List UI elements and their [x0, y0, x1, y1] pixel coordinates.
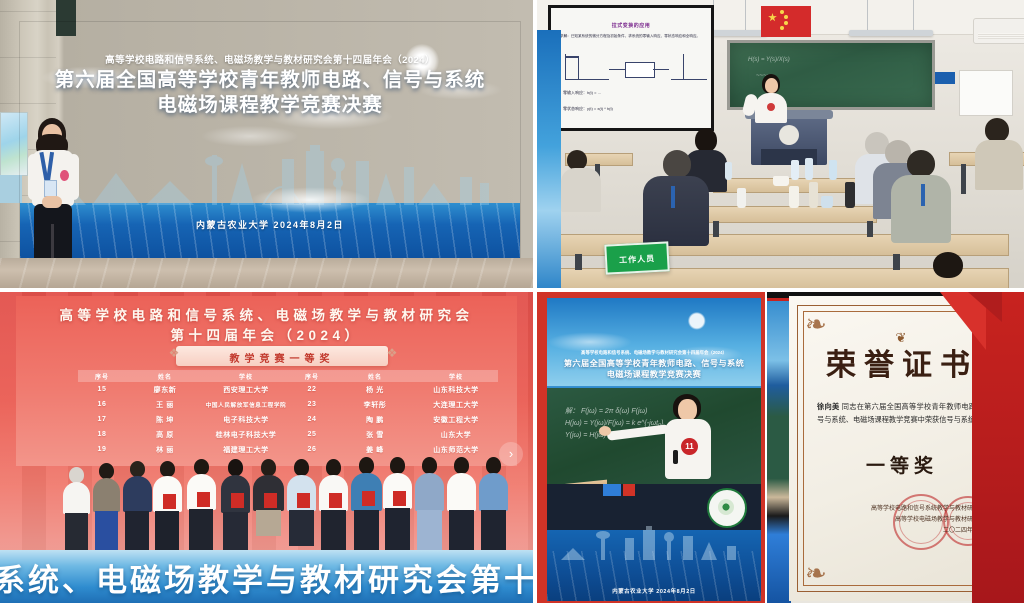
- wall-sign: [935, 72, 955, 84]
- cell-no-right: 23: [288, 401, 336, 408]
- award-plaque: 教学竞赛一等奖: [176, 346, 388, 366]
- background-strip: [767, 292, 791, 603]
- panel-classroom-lecture[interactable]: 拉式变换的应用 求解：已知某系统的微分方程及初始条件，求系统的零输入响应、零状态…: [537, 0, 1024, 288]
- presenter: [751, 74, 791, 122]
- cell-no-right: 24: [288, 416, 336, 423]
- teacher-hand: [599, 426, 611, 436]
- slide-equation-2: 零状态响应：y(t) = x(t) * h(t): [563, 106, 613, 112]
- hands: [42, 196, 62, 208]
- lamp-wire: [745, 0, 746, 30]
- issuer-line-2: 高等学校电磁场教学与教材研究会: [835, 515, 985, 526]
- staff-sign-label: 工作人员: [607, 252, 667, 266]
- cell-name-right: 陶 鹏: [336, 415, 414, 425]
- panel-event-backdrop[interactable]: 高等学校电路和信号系统、电磁场教学与教材研究会第十四届年会（2024） 第六届全…: [0, 0, 533, 288]
- certificate-issuer: 高等学校电路和信号系统教学与教材研究会 高等学校电磁场教学与教材研究会 二〇二四…: [835, 504, 985, 537]
- audience-member: [891, 150, 949, 242]
- female-participant: [22, 118, 84, 278]
- desk-leg: [867, 221, 873, 237]
- th-name-right: 姓名: [336, 372, 414, 381]
- lamp-wire: [867, 0, 868, 30]
- stage-front-banner: 系统、电磁场教学与教材研究会第十四: [0, 550, 533, 603]
- red-card: [623, 484, 635, 496]
- blackboard-line-1: 解： F(jω) = 2π δ(ω) F(jω): [565, 406, 663, 418]
- microphone: [673, 450, 678, 464]
- th-school-left: 学校: [204, 372, 288, 381]
- table-row: 17 陈 坤 电子科技大学 24 陶 鹏 安徽工程大学: [78, 412, 498, 427]
- photo-banner-subtitle: 高等学校电路和信号系统、电磁场教学与教材研究会第十四届年会（2024）: [547, 350, 761, 356]
- audience-member: [917, 252, 977, 288]
- th-school-right: 学校: [414, 372, 498, 381]
- panel-award-ceremony[interactable]: 高等学校电路和信号系统、电磁场教学与教材研究会 第十四届年会（2024） 教学竞…: [0, 292, 533, 603]
- flag-big-star: [768, 13, 777, 22]
- horizon-glow: [250, 187, 370, 213]
- pavement: [0, 258, 533, 288]
- blue-card: [603, 484, 621, 496]
- award-recipient: [414, 457, 444, 551]
- award-recipient: [478, 457, 508, 551]
- lectern-emblem: [779, 125, 799, 145]
- desk-leg: [713, 221, 719, 237]
- cell-name-right: 李轩彤: [336, 400, 414, 410]
- contestant-number-badge: 11: [681, 438, 698, 455]
- stage-front-banner-text: 系统、电磁场教学与教材研究会第十四: [0, 555, 533, 600]
- photo-collage: 高等学校电路和信号系统、电磁场教学与教材研究会第十四届年会（2024） 第六届全…: [0, 0, 1024, 603]
- slide-equation-1: 零输入响应：h(t) = …: [563, 90, 602, 96]
- award-recipient: [220, 459, 250, 551]
- university-logo-icon: [707, 488, 747, 528]
- award-recipient: [62, 467, 90, 551]
- diagram-pulse: [566, 56, 578, 58]
- diagram-input-arrow: [609, 69, 625, 70]
- cell-school-right: 安徽工程大学: [414, 415, 498, 425]
- photo-banner-title-line2: 电磁场课程教学竞赛决赛: [547, 369, 761, 380]
- award-recipient: [350, 457, 382, 551]
- desk-leg: [961, 164, 966, 194]
- flag-small-star: [780, 10, 784, 14]
- lamp-wire: [913, 0, 914, 30]
- cell-school-left: 西安理工大学: [204, 385, 288, 395]
- certificate-body-text: 同志在第六届全国高等学校青年教师电路、信号与系统、电磁场课程教学竞赛中荣获信号与…: [817, 402, 991, 424]
- diagram2-x-axis: [671, 79, 707, 80]
- flag-small-star: [784, 15, 788, 19]
- name-badge: [44, 180, 57, 197]
- cell-name-left: 王 丽: [126, 400, 204, 410]
- event-banner: 高等学校电路和信号系统、电磁场教学与教材研究会第十四届年会（2024） 第六届全…: [20, 22, 520, 265]
- cell-school-right: 大连理工大学: [414, 400, 498, 410]
- next-slide-arrow-icon[interactable]: ›: [499, 442, 523, 466]
- printed-photo: 高等学校电路和信号系统、电磁场教学与教材研究会第十四届年会（2024） 第六届全…: [547, 298, 761, 601]
- award-recipient: [286, 459, 316, 551]
- cell-no-left: 17: [78, 416, 126, 423]
- diagram-x-axis: [565, 79, 609, 80]
- diagram-system-box: [625, 62, 655, 78]
- cell-no-left: 16: [78, 401, 126, 408]
- award-recipient: [318, 459, 348, 551]
- projected-slide: 拉式变换的应用 求解：已知某系统的微分方程及初始条件，求系统的零输入响应、零状态…: [551, 8, 711, 128]
- chinese-flag: [761, 6, 811, 37]
- water-bottle: [791, 160, 799, 180]
- recipients-row: [0, 433, 533, 551]
- slide-title: 拉式变换的应用: [551, 22, 711, 29]
- ornament-left-icon: ❖: [166, 346, 182, 362]
- tissue-box: [821, 196, 833, 208]
- issuer-line-1: 高等学校电路和信号系统教学与教材研究会: [835, 504, 985, 515]
- issue-date: 二〇二四年八月: [835, 526, 985, 537]
- photo-blackboard: 解： F(jω) = 2π δ(ω) F(jω) H(jω) = Y(jω)/F…: [547, 388, 761, 484]
- desk-leg: [893, 254, 900, 270]
- award-plaque-label: 教学竞赛一等奖: [176, 350, 388, 365]
- photo-banner-title-line1: 第六届全国高等学校青年教师电路、信号与系统: [547, 358, 761, 369]
- panel-honor-certificate[interactable]: ❧ ❧ ❧ ❧ ❦ 荣誉证书 徐向美 同志在第六届全国高等学校青年教师电路、信号…: [767, 292, 1024, 603]
- corsage: [60, 170, 69, 181]
- award-recipient: [122, 461, 152, 551]
- cup: [789, 186, 799, 208]
- cell-name-left: 陈 坤: [126, 415, 204, 425]
- award-recipient: [152, 461, 182, 551]
- diagram2-y-axis: [683, 54, 684, 80]
- air-conditioner: [973, 18, 1024, 44]
- wall-poster-secondary: [0, 175, 22, 203]
- projection-screen: 拉式变换的应用 求解：已知某系统的微分方程及初始条件，求系统的零输入响应、零状态…: [548, 5, 714, 131]
- photo-skyline-icon: [547, 526, 761, 560]
- cell-no-right: 22: [288, 386, 336, 393]
- banner-footer: 内蒙古农业大学 2024年8月2日: [20, 218, 520, 231]
- photo-banner-title: 第六届全国高等学校青年教师电路、信号与系统 电磁场课程教学竞赛决赛: [547, 358, 761, 380]
- contestant-teacher: 11: [655, 394, 725, 490]
- cell-name-right: 杨 光: [336, 385, 414, 395]
- cell-school-left: 电子科技大学: [204, 415, 288, 425]
- ornament-right-icon: ❖: [384, 346, 400, 362]
- thermos: [809, 182, 818, 208]
- corner-flourish-bottom-left-icon: ❧: [799, 556, 833, 590]
- th-name-left: 姓名: [126, 372, 204, 381]
- cell-school-right: 山东科技大学: [414, 385, 498, 395]
- audience-member: [561, 150, 601, 210]
- teacher-face: [678, 399, 697, 421]
- award-recipient: [186, 459, 216, 551]
- award-recipient: [92, 463, 120, 551]
- staff-sign: 工作人员: [604, 241, 669, 274]
- flag-small-star: [780, 26, 784, 30]
- table-row: 15 廖东新 西安理工大学 22 杨 光 山东科技大学: [78, 382, 498, 397]
- panel-lecture-print[interactable]: 高等学校电路和信号系统、电磁场教学与教材研究会第十四届年会（2024） 第六届全…: [537, 292, 765, 603]
- desk-leg: [575, 254, 582, 270]
- award-recipient: [252, 459, 284, 551]
- table-row: 16 王 丽 中国人民解放军信息工程学院 23 李轩彤 大连理工大学: [78, 397, 498, 412]
- cell-school-left: 中国人民解放军信息工程学院: [204, 401, 288, 409]
- th-no-left: 序号: [78, 372, 126, 381]
- thermos: [845, 182, 855, 208]
- banner-title: 第六届全国高等学校青年教师电路、信号与系统 电磁场课程教学竞赛决赛: [20, 68, 520, 118]
- rollup-banner: [537, 30, 561, 288]
- ceremony-headline-2: 第十四届年会（2024）: [16, 324, 517, 344]
- diagram-y-axis: [565, 54, 566, 80]
- whiteboard: [959, 70, 1013, 116]
- lanyard: [921, 184, 925, 206]
- diagram-pulse-edge: [578, 56, 579, 79]
- blackboard-note: H(s) = Y(s)/X(s): [748, 57, 790, 63]
- cell-name-left: 廖东新: [126, 385, 204, 395]
- diagram-output-arrow: [653, 69, 669, 70]
- banner-subtitle: 高等学校电路和信号系统、电磁场教学与教材研究会第十四届年会（2024）: [20, 52, 520, 66]
- lanyard: [671, 186, 675, 208]
- table-header-row: 序号 姓名 学校 序号 姓名 学校: [78, 370, 498, 382]
- certificate-recipient: 徐向美: [817, 402, 839, 411]
- banner-title-line1: 第六届全国高等学校青年教师电路、信号与系统: [20, 68, 520, 93]
- ceiling-lamp: [849, 30, 933, 36]
- presenter-number-badge: [767, 103, 775, 111]
- water-bottle: [805, 158, 813, 180]
- cell-no-left: 15: [78, 386, 126, 393]
- water-bottle: [829, 160, 837, 180]
- award-recipient: [382, 457, 412, 551]
- presenter-face: [765, 78, 778, 93]
- certificate-body: 徐向美 同志在第六届全国高等学校青年教师电路、信号与系统、电磁场课程教学竞赛中荣…: [817, 400, 991, 426]
- award-recipient: [446, 457, 476, 551]
- cup: [737, 188, 746, 208]
- ceremony-headline-1: 高等学校电路和信号系统、电磁场教学与教材研究会: [16, 304, 517, 324]
- th-no-right: 序号: [288, 372, 336, 381]
- photo-banner-footer: 内蒙古农业大学 2024年8月2日: [547, 587, 761, 595]
- water-bottle: [725, 162, 732, 180]
- audience-member: [975, 118, 1021, 188]
- paper-stack: [773, 176, 789, 186]
- slide-paragraph: 求解：已知某系统的微分方程及初始条件，求系统的零输入响应、零状态响应和全响应。: [560, 34, 702, 39]
- banner-title-line2: 电磁场课程教学竞赛决赛: [20, 93, 520, 118]
- flag-small-star: [784, 21, 788, 25]
- audience-member: [645, 150, 707, 244]
